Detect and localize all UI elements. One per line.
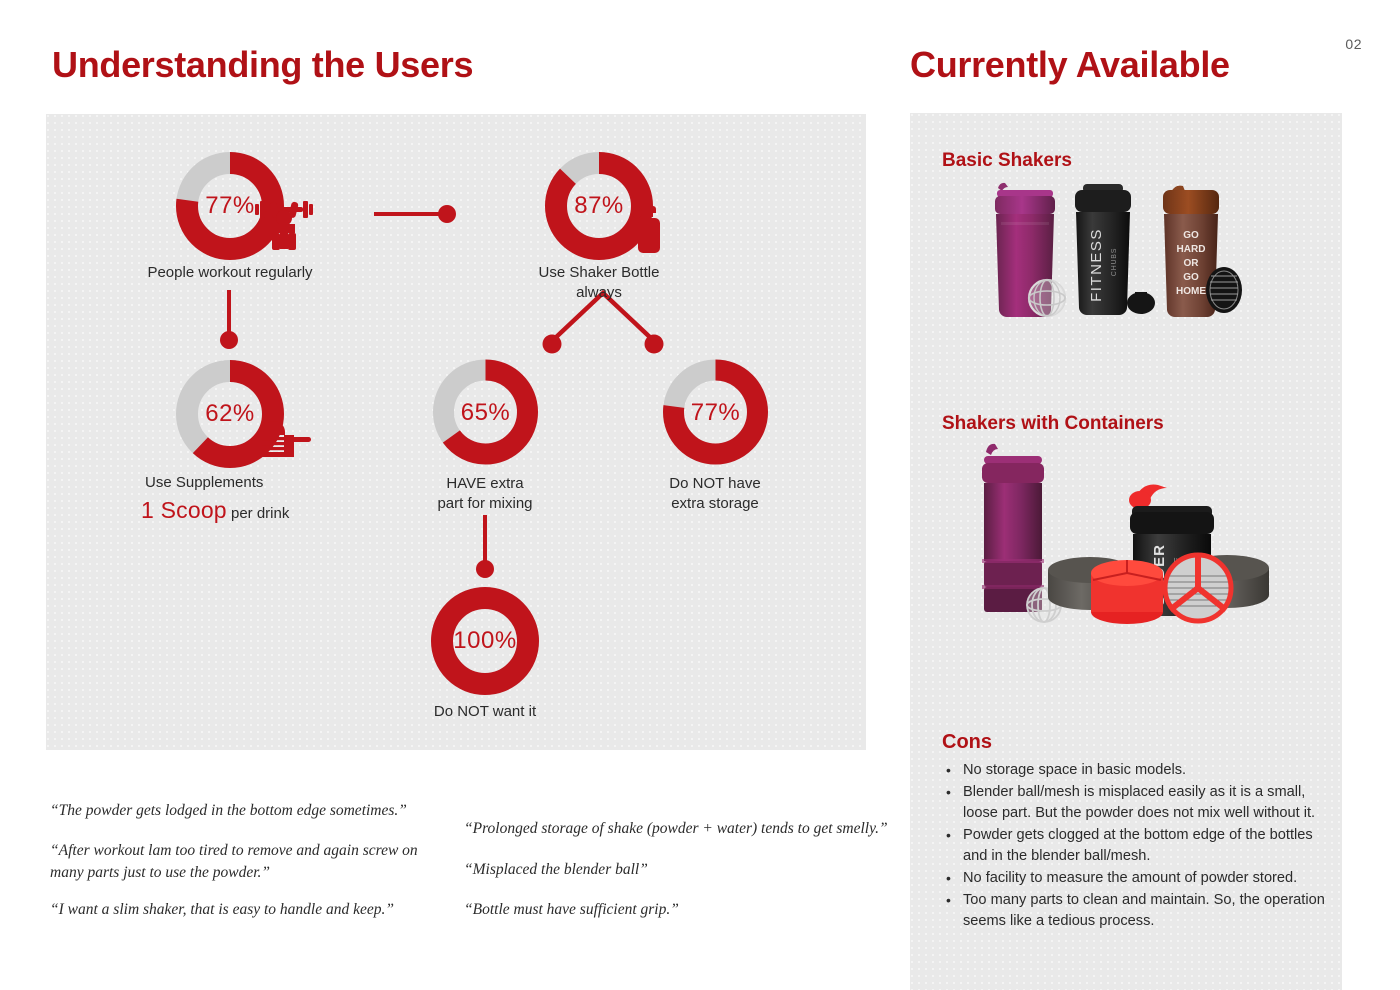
- quote-6: “Bottle must have sufficient grip.”: [464, 899, 894, 921]
- cons-list-item: • Blender ball/mesh is misplaced easily …: [946, 782, 1331, 824]
- stat-label-storage: Do NOT have extra storage: [650, 474, 780, 515]
- cons-list-item: • Powder gets clogged at the bottom edge…: [946, 825, 1331, 867]
- stat-label-workout: People workout regularly: [145, 263, 315, 283]
- stat-label-want: Do NOT want it: [415, 702, 555, 722]
- bullet-icon: •: [946, 868, 963, 888]
- black-fitness-shaker-photo: FITNESS CHUBS: [1075, 184, 1155, 315]
- stat-do-not-want-it: 100% Do NOT want it: [426, 584, 544, 722]
- bullet-icon: •: [946, 825, 963, 845]
- stat-label-supplements: Use Supplements: [141, 473, 319, 493]
- donut-value-storage: 77%: [658, 399, 773, 427]
- basic-shakers-heading: Basic Shakers: [942, 150, 1072, 172]
- mesh-disc: [1206, 267, 1242, 313]
- connector-workout-to-supplements: [216, 290, 246, 352]
- donut-value-want: 100%: [426, 627, 544, 655]
- cons-heading: Cons: [942, 731, 992, 754]
- shakers-with-containers-heading: Shakers with Containers: [942, 413, 1164, 435]
- svg-text:FITNESS: FITNESS: [1088, 228, 1105, 302]
- bullet-icon: •: [946, 782, 963, 802]
- donut-chart-storage: 77%: [658, 357, 773, 468]
- donut-chart-want: 100%: [426, 584, 544, 698]
- quote-5: “Misplaced the blender ball”: [464, 859, 894, 881]
- connector-mixing-to-want: [472, 515, 502, 581]
- bullet-icon: •: [946, 760, 963, 780]
- stat-label-shaker: Use Shaker Bottle always: [514, 263, 684, 304]
- quote-1: “The powder gets lodged in the bottom ed…: [50, 800, 450, 822]
- basic-shakers-image-group: FITNESS CHUBS GO HARD OR GO HOME: [975, 170, 1245, 340]
- svg-text:CHUBS: CHUBS: [1111, 248, 1118, 277]
- cons-item-text: No storage space in basic models.: [963, 760, 1331, 781]
- cons-list: • No storage space in basic models. • Bl…: [946, 760, 1331, 933]
- scoop-amount: 1 Scoop: [141, 497, 227, 523]
- svg-text:OR: OR: [1184, 258, 1200, 269]
- stat-have-extra-part-for-mixing: 65% HAVE extra part for mixing: [428, 357, 543, 515]
- cons-list-item: • Too many parts to clean and maintain. …: [946, 890, 1331, 932]
- bullet-icon: •: [946, 890, 963, 910]
- purple-shaker-photo: [995, 183, 1065, 317]
- page-title-left: Understanding the Users: [52, 44, 473, 86]
- scoop-suffix: per drink: [227, 505, 290, 522]
- brown-shaker-photo: GO HARD OR GO HOME: [1163, 186, 1242, 317]
- slide: Understanding the Users Currently Availa…: [0, 0, 1400, 990]
- quote-2: “After workout lam too tired to remove a…: [50, 840, 450, 885]
- container-shakers-image-group: SPIDER BOTTLE: [960, 440, 1270, 640]
- cons-item-text: Too many parts to clean and maintain. So…: [963, 890, 1331, 932]
- quote-3: “I want a slim shaker, that is easy to h…: [50, 899, 450, 921]
- scoop-info: 1 Scoop per drink: [141, 497, 319, 524]
- weightlifter-icon: [252, 188, 316, 255]
- cons-list-item: • No facility to measure the amount of p…: [946, 868, 1331, 889]
- quote-4: “Prolonged storage of shake (powder + wa…: [464, 818, 894, 840]
- stat-do-not-have-extra-storage: 77% Do NOT have extra storage: [658, 357, 773, 515]
- cons-item-text: No facility to measure the amount of pow…: [963, 868, 1331, 889]
- svg-text:GO: GO: [1183, 272, 1199, 283]
- red-mesh-disc-photo: [1165, 555, 1231, 621]
- cons-list-item: • No storage space in basic models.: [946, 760, 1331, 781]
- page-title-right: Currently Available: [910, 44, 1230, 86]
- bottle-icon: [632, 203, 666, 260]
- pointing-hand-icon: [256, 418, 312, 465]
- svg-text:GO: GO: [1183, 230, 1199, 241]
- cons-item-text: Powder gets clogged at the bottom edge o…: [963, 825, 1331, 867]
- svg-text:HOME: HOME: [1176, 286, 1206, 297]
- stat-label-mixing: HAVE extra part for mixing: [420, 474, 550, 515]
- connector-workout-to-shaker: [374, 203, 464, 225]
- svg-text:HARD: HARD: [1177, 244, 1206, 255]
- cons-item-text: Blender ball/mesh is misplaced easily as…: [963, 782, 1331, 824]
- page-number: 02: [1345, 36, 1362, 52]
- red-compartment-container-photo: [1091, 560, 1163, 624]
- donut-chart-mixing: 65%: [428, 357, 543, 468]
- donut-value-mixing: 65%: [428, 399, 543, 427]
